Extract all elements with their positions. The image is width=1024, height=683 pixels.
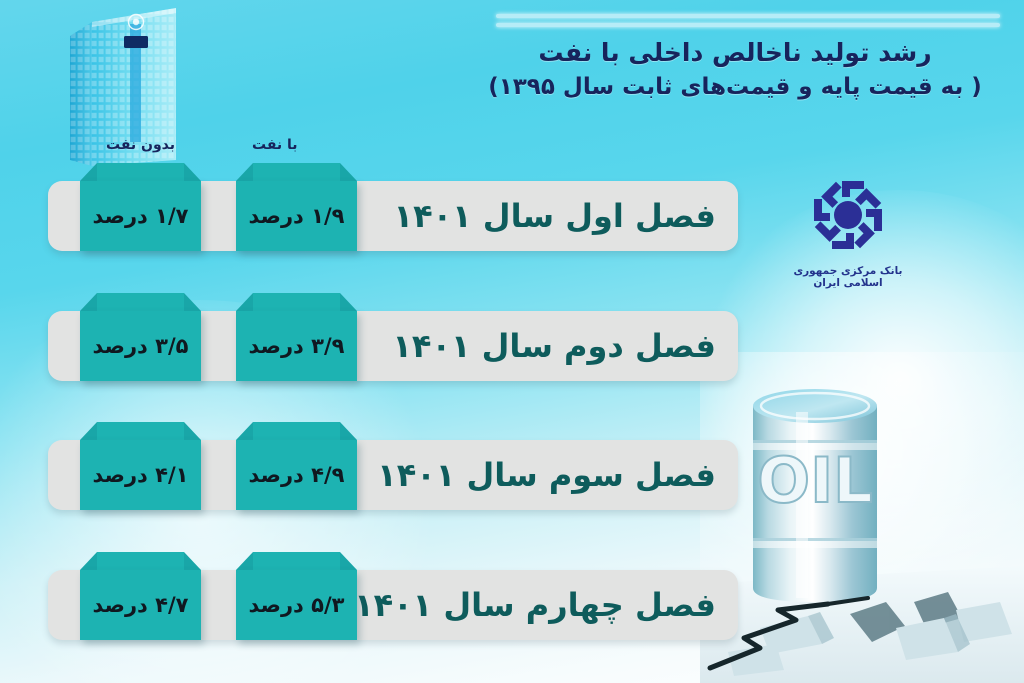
value-without-oil: ۳/۵ درصد	[93, 334, 189, 358]
data-rows: فصل اول سال ۱۴۰۱ ۱/۹ درصد ۱/۷ درصد فصل د…	[0, 0, 1024, 683]
value-box-without-oil[interactable]: ۳/۵ درصد	[80, 293, 201, 381]
value-box-with-oil[interactable]: ۵/۳ درصد	[236, 552, 357, 640]
value-with-oil: ۵/۳ درصد	[249, 593, 345, 617]
value-box-without-oil[interactable]: ۱/۷ درصد	[80, 163, 201, 251]
ribbon-fold	[236, 163, 357, 181]
value-box-without-oil[interactable]: ۴/۷ درصد	[80, 552, 201, 640]
value-without-oil: ۴/۷ درصد	[93, 593, 189, 617]
value-with-oil: ۴/۹ درصد	[249, 463, 345, 487]
ribbon-fold	[80, 422, 201, 440]
ribbon-fold	[80, 552, 201, 570]
value-with-oil: ۱/۹ درصد	[249, 204, 345, 228]
value-box-with-oil[interactable]: ۱/۹ درصد	[236, 163, 357, 251]
ribbon-fold	[236, 293, 357, 311]
table-row[interactable]: فصل سوم سال ۱۴۰۱ ۴/۹ درصد ۴/۱ درصد	[48, 440, 738, 510]
row-period-label: فصل دوم سال ۱۴۰۱	[392, 311, 716, 381]
ribbon-fold	[236, 552, 357, 570]
row-period-label: فصل اول سال ۱۴۰۱	[394, 181, 716, 251]
table-row[interactable]: فصل چهارم سال ۱۴۰۱ ۵/۳ درصد ۴/۷ درصد	[48, 570, 738, 640]
value-without-oil: ۱/۷ درصد	[93, 204, 189, 228]
value-with-oil: ۳/۹ درصد	[249, 334, 345, 358]
ribbon-fold	[236, 422, 357, 440]
ribbon-fold	[80, 163, 201, 181]
value-box-without-oil[interactable]: ۴/۱ درصد	[80, 422, 201, 510]
ribbon-fold	[80, 293, 201, 311]
row-period-label: فصل چهارم سال ۱۴۰۱	[354, 570, 716, 640]
value-box-with-oil[interactable]: ۴/۹ درصد	[236, 422, 357, 510]
infographic-canvas: رشد تولید ناخالص داخلی با نفت ( به قیمت …	[0, 0, 1024, 683]
table-row[interactable]: فصل دوم سال ۱۴۰۱ ۳/۹ درصد ۳/۵ درصد	[48, 311, 738, 381]
table-row[interactable]: فصل اول سال ۱۴۰۱ ۱/۹ درصد ۱/۷ درصد	[48, 181, 738, 251]
value-box-with-oil[interactable]: ۳/۹ درصد	[236, 293, 357, 381]
row-period-label: فصل سوم سال ۱۴۰۱	[377, 440, 716, 510]
value-without-oil: ۴/۱ درصد	[93, 463, 189, 487]
